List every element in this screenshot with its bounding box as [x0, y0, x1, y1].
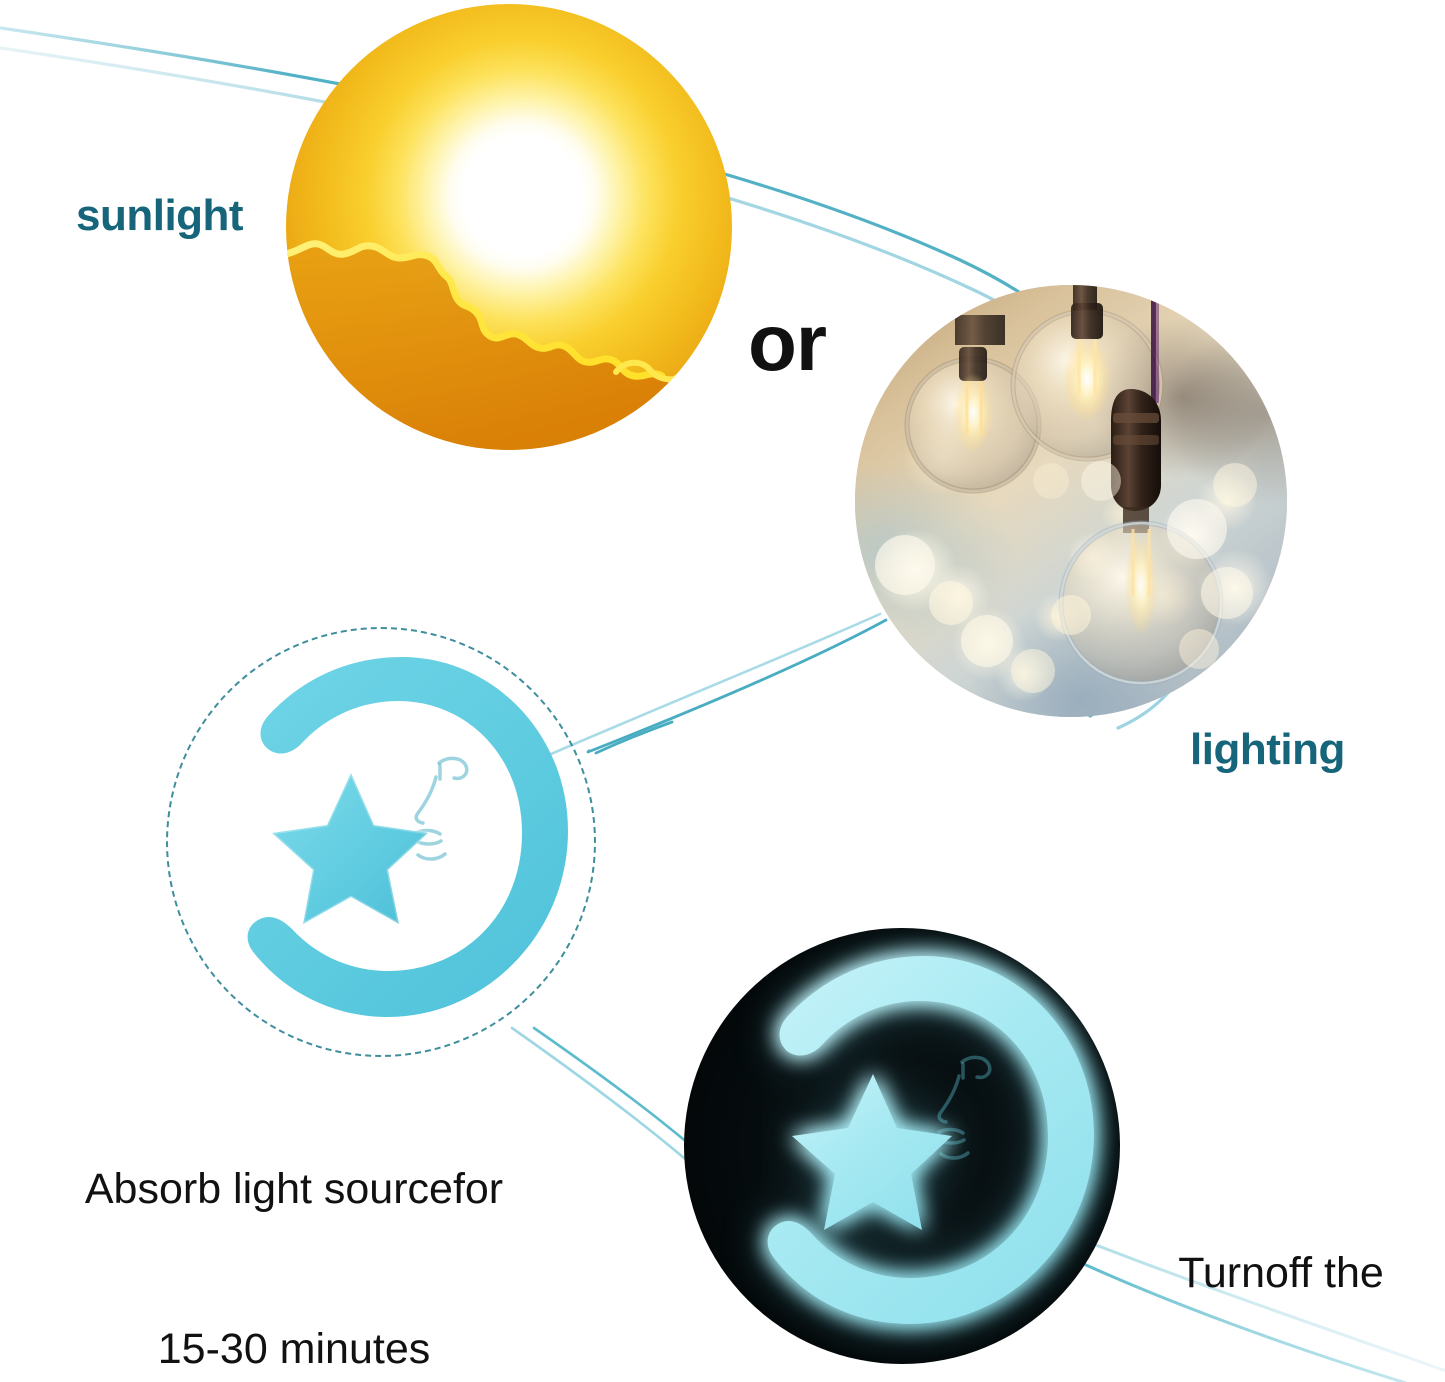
- hanging-bulbs-illustration: [855, 285, 1287, 717]
- label-lighting: lighting: [1190, 726, 1345, 774]
- moon-star-sticker-icon: [166, 627, 596, 1057]
- label-turnoff-glow: Turnoff the light,glow in the dark: [1140, 1142, 1422, 1382]
- infographic-canvas: sunlight or lighting Absorb light source…: [0, 0, 1445, 1382]
- glowing-moon-star-icon: [684, 928, 1120, 1364]
- label-absorb-light-source: Absorb light sourcefor 15-30 minutes: [44, 1056, 544, 1382]
- absorb-line-1: Absorb light sourcefor: [44, 1163, 544, 1216]
- absorb-line-2: 15-30 minutes: [44, 1323, 544, 1376]
- glow-in-dark-moon: [684, 928, 1120, 1364]
- label-or: or: [748, 300, 826, 386]
- light-bulbs-icon: [855, 285, 1287, 717]
- label-sunlight: sunlight: [76, 192, 243, 240]
- cloud-silhouette-icon: [286, 4, 732, 450]
- crescent-moon-with-star: [166, 627, 596, 1057]
- turnoff-line-1: Turnoff the: [1140, 1247, 1422, 1299]
- sun-icon: [286, 4, 732, 450]
